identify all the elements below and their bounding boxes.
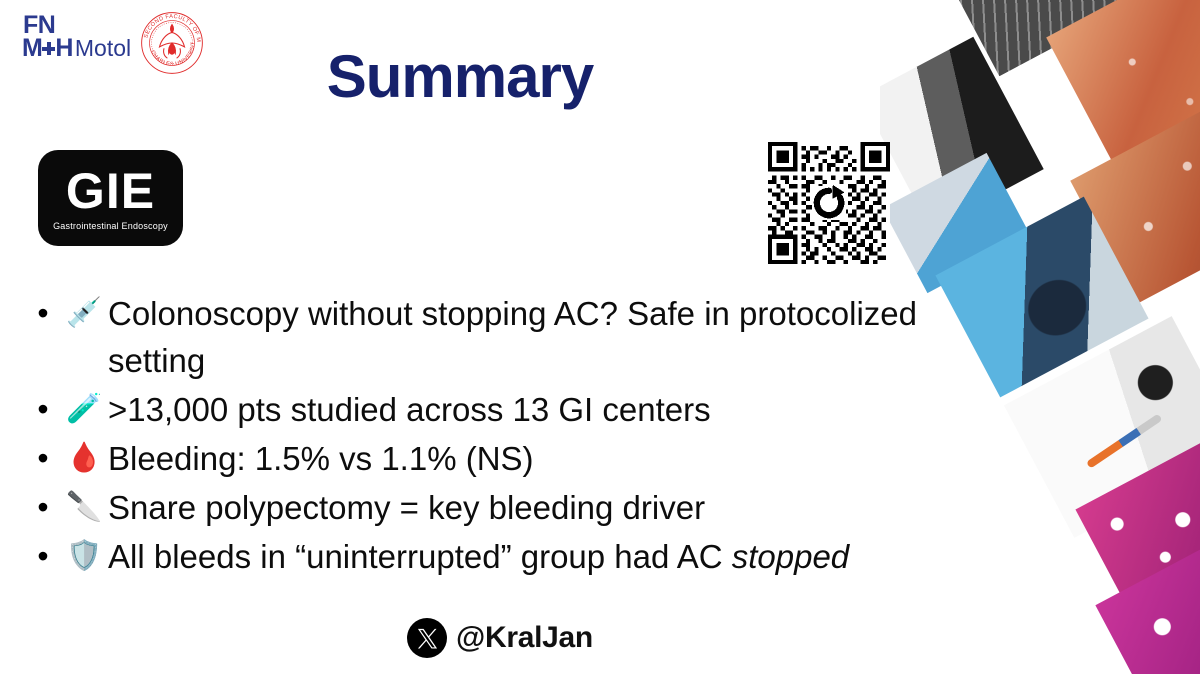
bullet-marker: • — [26, 386, 60, 433]
test-tube-emoji: 🧪 — [60, 386, 108, 433]
bullet-text-italic: stopped — [732, 538, 849, 575]
bullet-marker: • — [26, 484, 60, 531]
list-item: • 🧪 >13,000 pts studied across 13 GI cen… — [26, 386, 1001, 433]
gie-subtitle: Gastrointestinal Endoscopy — [53, 221, 168, 231]
social-handle-footer: @KralJan — [0, 618, 1000, 658]
list-item: • 🩸 Bleeding: 1.5% vs 1.1% (NS) — [26, 435, 1001, 482]
bullet-marker: • — [26, 435, 60, 482]
knife-emoji: 🔪 — [60, 484, 108, 531]
bullet-text: Bleeding: 1.5% vs 1.1% (NS) — [108, 435, 534, 482]
summary-bullet-list: • 💉 Colonoscopy without stopping AC? Saf… — [26, 290, 1001, 582]
bullet-text-regular: All bleeds in “uninterrupted” group had … — [108, 538, 732, 575]
list-item: • 💉 Colonoscopy without stopping AC? Saf… — [26, 290, 1001, 384]
blood-drop-emoji: 🩸 — [60, 435, 108, 482]
bullet-text: Colonoscopy without stopping AC? Safe in… — [108, 290, 1001, 384]
bullet-marker: • — [26, 290, 60, 337]
handle-text: @KralJan — [456, 621, 593, 655]
syringe-emoji: 💉 — [60, 290, 108, 337]
list-item: • 🛡️ All bleeds in “uninterrupted” group… — [26, 533, 1001, 580]
bullet-text: Snare polypectomy = key bleeding driver — [108, 484, 705, 531]
gie-letters: GIE — [66, 166, 155, 216]
x-twitter-icon[interactable] — [407, 618, 447, 658]
shield-emoji: 🛡️ — [60, 533, 108, 580]
bullet-text: >13,000 pts studied across 13 GI centers — [108, 386, 711, 433]
page-title: Summary — [0, 42, 920, 111]
summary-slide: FN M H Motol SECOND FACUL — [0, 0, 1200, 674]
bullet-text: All bleeds in “uninterrupted” group had … — [108, 533, 849, 580]
gie-journal-logo: GIE Gastrointestinal Endoscopy — [38, 150, 183, 246]
list-item: • 🔪 Snare polypectomy = key bleeding dri… — [26, 484, 1001, 531]
bullet-marker: • — [26, 533, 60, 580]
qr-code[interactable] — [768, 142, 890, 264]
